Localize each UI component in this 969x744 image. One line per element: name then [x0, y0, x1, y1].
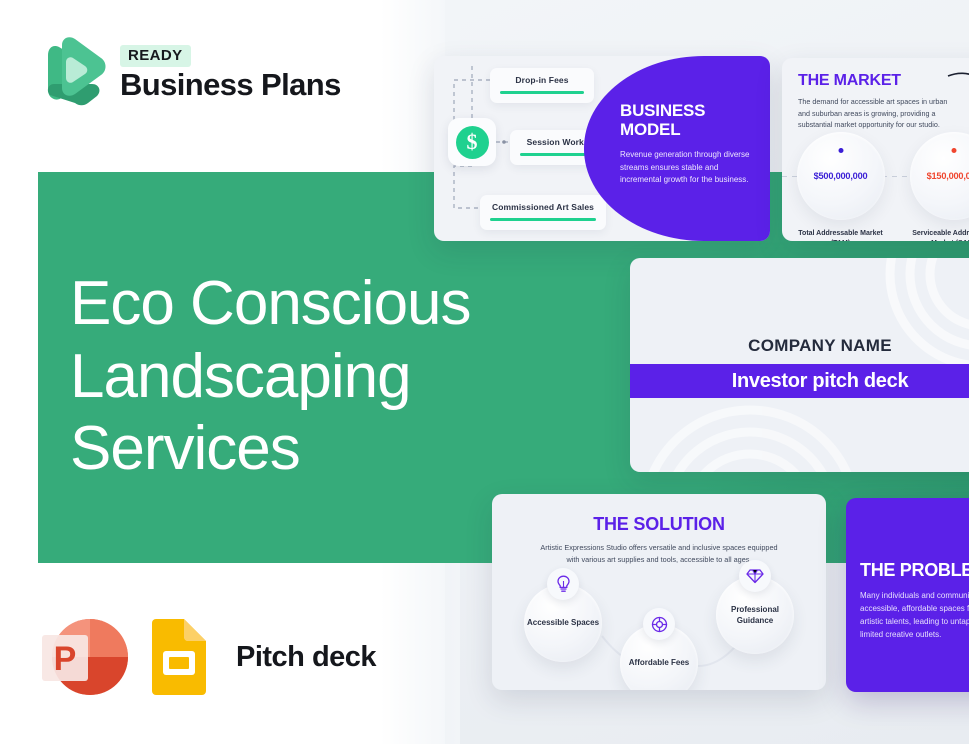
lightbulb-icon — [547, 568, 579, 600]
ready-badge: READY — [120, 45, 191, 67]
problem-title: THE PROBLEM — [860, 560, 969, 581]
revenue-stream-label: Drop-in Fees — [500, 75, 584, 85]
metric-amount: $150,000,000 — [927, 171, 969, 181]
target-icon — [643, 608, 675, 640]
accent-bar — [490, 218, 596, 221]
business-model-title: BUSINESS MODEL — [620, 102, 752, 139]
problem-description: Many individuals and communities lack ac… — [860, 590, 969, 642]
business-model-description: Revenue generation through diverse strea… — [620, 149, 752, 186]
revenue-stream-item[interactable]: Commissioned Art Sales — [480, 195, 606, 230]
curved-arrow-icon — [946, 70, 969, 112]
format-label: Pitch deck — [236, 641, 376, 674]
revenue-stream-item[interactable]: Drop-in Fees — [490, 68, 594, 103]
pillar-label: Accessible Spaces — [527, 617, 599, 628]
accent-bar — [500, 91, 584, 94]
format-row: P Pitch deck — [40, 617, 376, 697]
solution-title: THE SOLUTION — [492, 514, 826, 535]
brand-text: READY Business Plans — [120, 45, 341, 102]
pillar[interactable]: Professional Guidance — [716, 576, 794, 654]
revenue-stream-label: Commissioned Art Sales — [490, 202, 596, 212]
pillar-disc: Accessible Spaces — [524, 584, 602, 662]
metric-caption: Total Addressable Market (TAM) — [788, 229, 893, 241]
pillar-label: Professional Guidance — [716, 604, 794, 626]
pillar-disc: Affordable Fees — [620, 624, 698, 690]
solution-description: Artistic Expressions Studio offers versa… — [537, 542, 781, 566]
slide-market[interactable]: THE MARKET The demand for accessible art… — [782, 58, 969, 241]
market-description: The demand for accessible art spaces in … — [798, 96, 950, 131]
poster-canvas: READY Business Plans Eco Conscious Lands… — [0, 0, 969, 744]
company-subtitle-band: Investor pitch deck — [630, 364, 969, 398]
metric-disc: $500,000,000 — [797, 132, 885, 220]
market-metric: $500,000,000 Total Addressable Market (T… — [788, 132, 893, 241]
market-metrics: $500,000,000 Total Addressable Market (T… — [782, 132, 969, 241]
market-title: THE MARKET — [798, 72, 969, 90]
metric-dot — [838, 148, 843, 153]
metric-dot — [951, 148, 956, 153]
dollar-icon: $ — [448, 118, 496, 166]
slide-solution[interactable]: THE SOLUTION Artistic Expressions Studio… — [492, 494, 826, 690]
metric-amount: $500,000,000 — [814, 171, 868, 181]
diamond-icon — [739, 560, 771, 592]
slide-company-title[interactable]: COMPANY NAME Investor pitch deck — [630, 258, 969, 472]
metric-disc: $150,000,000 — [910, 132, 969, 220]
company-subtitle: Investor pitch deck — [732, 370, 909, 393]
brand-lockup: READY Business Plans — [40, 33, 341, 113]
dollar-glyph: $ — [456, 126, 489, 159]
pillar-label: Affordable Fees — [629, 657, 689, 668]
powerpoint-icon: P — [40, 617, 130, 697]
slide-business-model[interactable]: $ Drop-in Fees Session Workshops Commiss… — [434, 56, 770, 241]
slide-problem[interactable]: THE PROBLEM Many individuals and communi… — [846, 498, 969, 692]
pillar[interactable]: Accessible Spaces — [524, 584, 602, 662]
google-slides-icon — [148, 619, 210, 695]
pillar[interactable]: Affordable Fees — [620, 624, 698, 690]
pillar-disc: Professional Guidance — [716, 576, 794, 654]
play-triangle-logo-icon — [40, 33, 106, 113]
solution-pillars: Accessible Spaces Affordable Fees — [492, 566, 826, 690]
company-name: COMPANY NAME — [630, 336, 969, 356]
metric-caption: Serviceable Addressable Market (SAM) — [901, 229, 969, 241]
brand-name: Business Plans — [120, 69, 341, 102]
hero-title: Eco Conscious Landscaping Services — [70, 268, 590, 486]
svg-text:P: P — [54, 640, 77, 678]
market-metric: $150,000,000 Serviceable Addressable Mar… — [901, 132, 969, 241]
